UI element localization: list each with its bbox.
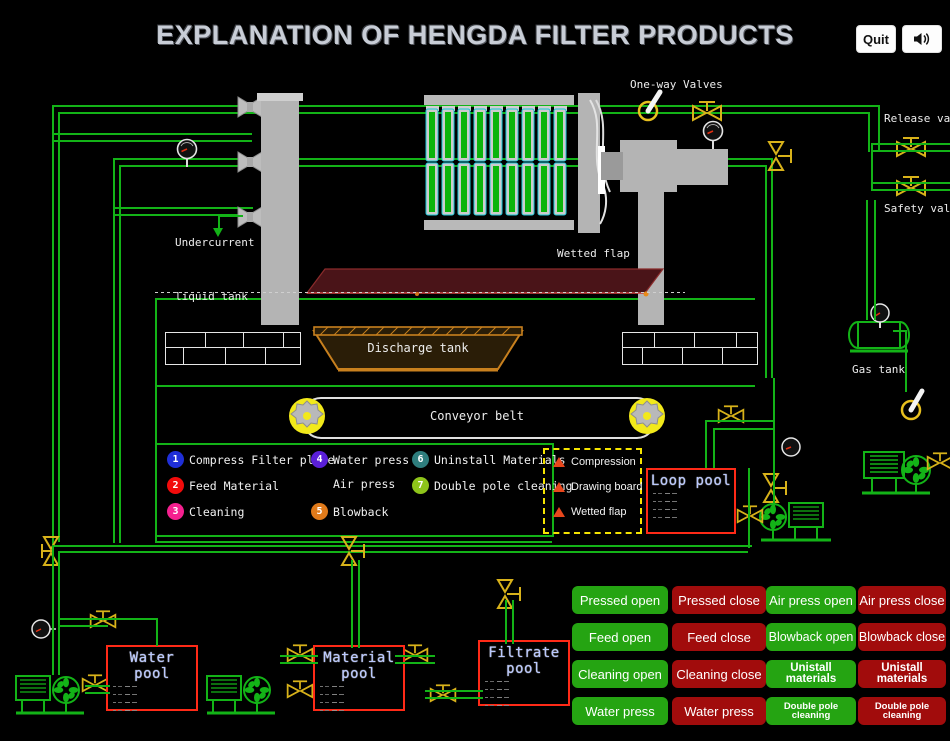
inline-valve[interactable] [428,682,458,708]
legend-label: Air press [333,477,395,491]
btn-air-press-close[interactable]: Air press close [858,586,946,614]
pipe-vertical [874,200,876,320]
angle-valve[interactable] [760,472,790,506]
btn-pressed-close[interactable]: Pressed close [672,586,766,614]
loop-gauge [780,436,802,458]
gauge-icon [176,138,198,168]
legend-label: Feed Material [189,479,279,493]
water-pool: Water pool [106,645,198,711]
btn-unistall-materials-open[interactable]: Unistall materials [766,660,856,688]
gas-tank-gauge [869,303,891,329]
btn-water-press-open[interactable]: Water press [572,697,668,725]
pump-motor-unit [205,668,287,720]
label-release-valve: Release valve [884,112,950,125]
angle-valve[interactable] [40,535,70,569]
loop-pool-title: Loop pool [648,470,734,489]
pump-motor-unit [14,668,96,720]
pipe-vertical [512,600,514,644]
loop-pool: Loop pool [646,468,736,534]
pipe-horizontal [58,618,108,620]
hydraulic-cylinder [620,140,677,192]
pipe-horizontal [425,697,483,699]
flange-connector [236,150,264,174]
gauge-icon [869,303,891,329]
pipe-vertical [713,428,715,468]
label-gas-tank: Gas tank [852,363,905,376]
conveyor-belt: Conveyor belt [288,397,666,435]
btn-double-pole-cleaning-open[interactable]: Double pole cleaning [766,697,856,725]
one-way-valve[interactable] [636,90,666,122]
legend-bullet: 6 [412,451,429,468]
page-title: EXPLANATION OF HENGDA FILTER PRODUCTS [0,20,950,51]
pool-fill-lines [113,686,191,711]
pipe-horizontal [893,330,907,332]
legend-item: 2 Feed Material [167,477,279,494]
pressure-gauge [176,138,198,168]
filtrate-pool: Filtrate pool [478,640,570,706]
angle-valve[interactable] [765,140,795,174]
inline-valve[interactable] [735,503,765,529]
gauge-icon [30,618,52,640]
pipe-horizontal [395,655,435,657]
angle-valve[interactable] [494,578,524,612]
pipe-horizontal [113,207,253,209]
pipe-vertical [905,330,907,392]
pipe-horizontal [871,150,950,152]
pipe-horizontal [425,690,483,692]
water-pool-title: Water pool [108,647,196,682]
pipe-vertical [773,378,775,508]
legend-bullet: 2 [167,477,184,494]
phase-marker-icon [553,457,565,467]
btn-blowback-open[interactable]: Blowback open [766,623,856,651]
filter-press-head [261,97,299,325]
pool-fill-lines [485,681,563,706]
inline-valve[interactable] [88,608,118,634]
legend-bullet: 1 [167,451,184,468]
pipe-horizontal [58,625,108,627]
phase-label: Drawing board [571,481,643,493]
pipe-vertical [52,545,54,675]
btn-double-pole-cleaning-close[interactable]: Double pole cleaning [858,697,946,725]
pipe-vertical [765,165,767,378]
phase-row: Wetted flap [553,506,626,518]
conveyor-roller-left [288,397,326,435]
inline-valve[interactable] [285,678,315,704]
pool-fill-lines [653,493,729,518]
pipe-vertical [358,560,360,648]
brick-support-right [622,332,756,363]
pipe-vertical [156,618,158,646]
label-discharge-tank: Discharge tank [312,341,524,355]
discharge-tank: Discharge tank [312,325,524,373]
btn-pressed-open[interactable]: Pressed open [572,586,668,614]
release-valve[interactable] [894,136,928,162]
pipe-vertical [58,112,60,542]
legend-label: Water press [333,453,409,467]
phase-label: Compression [571,456,636,468]
legend-panel: 1 Compress Filter plate 2 Feed Material … [155,443,554,537]
btn-feed-open[interactable]: Feed open [572,623,668,651]
safety-valve[interactable] [894,175,928,201]
one-way-valve[interactable] [896,388,926,420]
pipe-horizontal [280,655,318,657]
pipe-vertical [866,200,868,320]
phase-indicator-panel: Compression Drawing board Wetted flap [543,448,642,534]
btn-cleaning-open[interactable]: Cleaning open [572,660,668,688]
conveyor-roller-right [628,397,666,435]
pipe-vertical [52,105,54,545]
pool-fill-lines [320,686,398,711]
control-button-grid: Pressed open Pressed close Air press ope… [572,586,944,730]
pipe-horizontal [871,189,950,191]
quit-button[interactable]: Quit [856,25,896,53]
legend-label: Blowback [333,505,388,519]
pipe-vertical [119,165,121,543]
phase-marker-icon [553,507,565,517]
quit-button-label: Quit [863,32,889,47]
brick-support-left [165,332,299,363]
btn-air-press-open[interactable]: Air press open [766,586,856,614]
legend-item: 1 Compress Filter plate [167,451,334,468]
phase-marker-icon [553,482,565,492]
pipe-horizontal [155,385,755,387]
filter-plate-pack [424,95,580,230]
label-wetted-flap: Wetted flap [557,247,630,260]
support-column-right [638,190,664,325]
btn-feed-close[interactable]: Feed close [672,623,766,651]
hmi-canvas: EXPLANATION OF HENGDA FILTER PRODUCTS Qu… [0,0,950,741]
pipe-horizontal [52,133,252,135]
label-undercurrent: Undercurrent [175,236,254,249]
pipe-horizontal [280,662,318,664]
flange-connector [236,205,264,229]
pipe-vertical [868,112,870,152]
inline-valve[interactable] [716,403,746,429]
pipe-horizontal [218,215,243,217]
sound-toggle-button[interactable] [902,25,942,53]
speaker-icon [912,31,932,47]
pipe-horizontal [871,182,950,184]
pipe-horizontal [85,685,110,687]
legend-item: 4 Water press [311,451,409,468]
phase-label: Wetted flap [571,506,626,518]
hydraulic-tube [676,149,728,185]
angle-valve[interactable] [338,535,368,569]
pipe-vertical [771,158,773,378]
material-pool: Material pool [313,645,405,711]
btn-blowback-close[interactable]: Blowback close [858,623,946,651]
pipe-horizontal [713,428,775,430]
pipe-horizontal [52,140,252,142]
pipe-vertical [58,551,60,675]
pipe-vertical [351,560,353,648]
label-liquid-tank: liquid tank [175,290,248,303]
phase-row: Drawing board [553,481,643,493]
pipe-horizontal [58,551,748,553]
pipe-horizontal [52,545,752,547]
legend-item: 3 Cleaning [167,503,244,520]
filter-press-head-top [257,93,303,101]
material-pool-title: Material pool [315,647,403,682]
label-safety-valve: Safety valve [884,202,950,215]
label-conveyor-belt: Conveyor belt [288,397,666,435]
legend-label: Cleaning [189,505,244,519]
legend-bullet: 3 [167,503,184,520]
inline-valve[interactable] [925,450,950,476]
pipe-vertical [748,468,750,548]
btn-unistall-materials-close[interactable]: Unistall materials [858,660,946,688]
legend-bullet: 5 [311,503,328,520]
legend-item: Air press [333,477,395,491]
pipe-horizontal [108,618,158,620]
pipe-horizontal [871,143,950,145]
pressure-gauge [30,618,52,640]
legend-bullet: 4 [311,451,328,468]
pipe-vertical [871,143,873,191]
inline-valve[interactable] [690,100,724,126]
pipe-horizontal [395,662,435,664]
pipe-vertical [705,420,707,468]
btn-cleaning-close[interactable]: Cleaning close [672,660,766,688]
filtrate-pool-title: Filtrate pool [480,642,568,677]
wetted-flap [295,265,663,303]
pipe-horizontal [85,692,110,694]
btn-water-press-close[interactable]: Water press [672,697,766,725]
gauge-icon [780,436,802,458]
hydraulic-ram [601,152,623,180]
legend-item: 5 Blowback [311,503,388,520]
phase-row: Compression [553,456,636,468]
legend-bullet: 7 [412,477,429,494]
pipe-vertical [505,600,507,644]
pipe-horizontal [705,420,775,422]
